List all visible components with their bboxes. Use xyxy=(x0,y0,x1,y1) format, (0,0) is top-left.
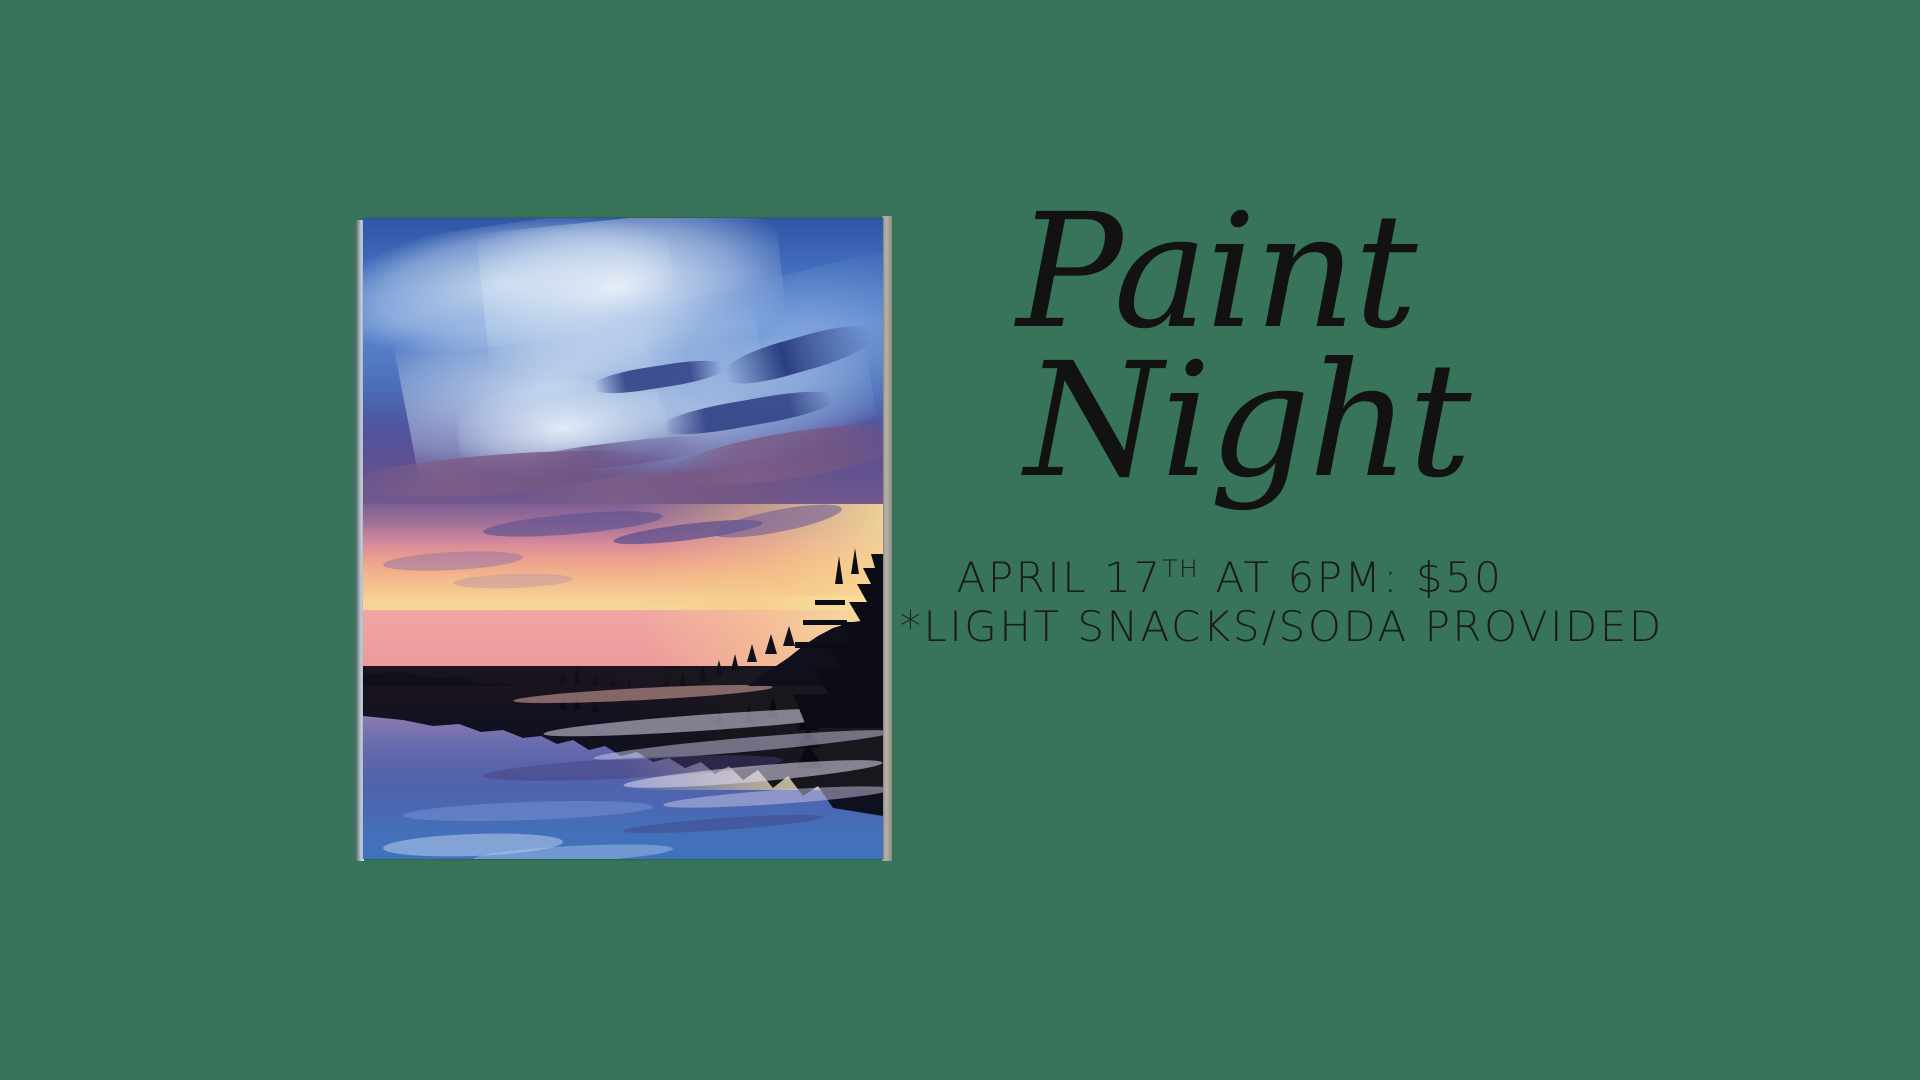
sunset-lake-painting xyxy=(355,216,892,861)
page-title-line-2: Night xyxy=(934,349,1560,494)
poster-text-column: Paint Night APRIL 17TH AT 6PM: $50 *LIGH… xyxy=(900,200,1560,652)
event-details: APRIL 17TH AT 6PM: $50 *LIGHT SNACKS/SOD… xyxy=(900,553,1560,652)
event-refreshments-note: *LIGHT SNACKS/SODA PROVIDED xyxy=(900,602,1560,652)
poster-canvas: Paint Night APRIL 17TH AT 6PM: $50 *LIGH… xyxy=(0,0,1920,1080)
event-date-prefix: APRIL 17 xyxy=(957,553,1163,602)
tall-tree-silhouette xyxy=(743,548,883,728)
event-date-ordinal: TH xyxy=(1162,554,1199,583)
event-time-price: AT 6PM: $50 xyxy=(1200,553,1504,602)
painting-surface xyxy=(363,218,883,859)
event-date-time-price: APRIL 17TH AT 6PM: $50 xyxy=(900,553,1560,603)
page-title-line-1: Paint xyxy=(872,200,1560,345)
